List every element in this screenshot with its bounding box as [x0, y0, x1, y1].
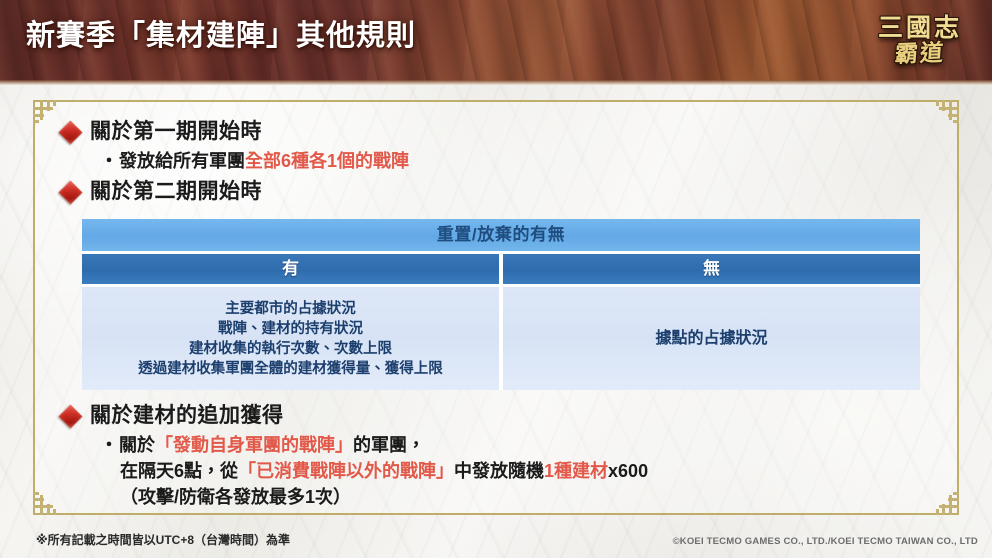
- table-column-headers: 有 無: [82, 254, 920, 284]
- header-bar: 新賽季「集材建陣」其他規則: [0, 0, 992, 85]
- table-cell-line: 透過建材收集軍團全體的建材獲得量、獲得上限: [138, 359, 443, 379]
- sub-bullet-dot: ・: [100, 151, 119, 171]
- sub-text-highlight: 1種建材: [544, 461, 608, 481]
- reset-abandon-table: 重置/放棄的有無 有 無 主要都市的占據狀況 戰陣、建材的持有狀況 建材收集的執…: [82, 219, 920, 390]
- sub-text-plain: 在隔天6點，從: [120, 461, 238, 481]
- sub-text-plain: x600: [608, 461, 648, 481]
- section-phase-two: 關於第二期開始時: [62, 178, 942, 206]
- red-diamond-icon: [58, 404, 82, 428]
- red-diamond-icon: [58, 120, 82, 144]
- corner-ornament-bottom-left: [33, 483, 65, 515]
- bullet-group-bottom: 關於建材的追加獲得 ・關於「發動自身軍團的戰陣」的軍團， 在隔天6點，從「已消費…: [62, 402, 942, 510]
- section-phase-one-title: 關於第一期開始時: [90, 118, 262, 146]
- corner-ornament-top-left: [33, 100, 65, 132]
- slide-root: 新賽季「集材建陣」其他規則 三國志 霸道 關於第一期開始時: [0, 0, 992, 558]
- table-column-header-yes: 有: [82, 254, 499, 284]
- sub-text-plain: 中發放隨機: [454, 461, 544, 481]
- table-cell-line: 主要都市的占據狀況: [225, 299, 356, 319]
- sangokushi-hadou-logo: 三國志 霸道: [860, 2, 980, 94]
- sub-text-plain: （攻擊/防衛各發放最多1次）: [120, 487, 351, 507]
- section-phase-two-heading: 關於第二期開始時: [62, 178, 942, 206]
- logo-line-2: 霸道: [859, 39, 981, 69]
- sub-text-plain: 關於: [119, 435, 155, 455]
- sub-text-plain: 發放給所有軍團: [119, 151, 245, 171]
- section-extra-materials-line-3: （攻擊/防衛各發放最多1次）: [120, 484, 942, 510]
- section-extra-materials-line-1: ・關於「發動自身軍團的戰陣」的軍團，: [100, 432, 942, 458]
- table-title: 重置/放棄的有無: [82, 219, 920, 251]
- section-phase-one-line-1: ・發放給所有軍團全部6種各1個的戰陣: [100, 148, 942, 174]
- copyright-notice: ©KOEI TECMO GAMES CO., LTD./KOEI TECMO T…: [673, 535, 978, 549]
- section-phase-two-title: 關於第二期開始時: [90, 178, 262, 206]
- sub-text-highlight: 「發動自身軍團的戰陣」: [155, 435, 353, 455]
- section-extra-materials-heading: 關於建材的追加獲得: [62, 402, 942, 430]
- sub-text-highlight: 「已消費戰陣以外的戰陣」: [238, 461, 454, 481]
- section-extra-materials: 關於建材的追加獲得 ・關於「發動自身軍團的戰陣」的軍團， 在隔天6點，從「已消費…: [62, 402, 942, 510]
- footnote-timezone: ※所有記載之時間皆以UTC+8（台灣時間）為準: [36, 532, 290, 548]
- section-extra-materials-line-2: 在隔天6點，從「已消費戰陣以外的戰陣」中發放隨機1種建材x600: [120, 458, 942, 484]
- section-extra-materials-title: 關於建材的追加獲得: [90, 402, 284, 430]
- table-cell-line: 戰陣、建材的持有狀況: [218, 319, 363, 339]
- table-cell-line: 據點的占據狀況: [655, 328, 767, 350]
- section-phase-one: 關於第一期開始時 ・發放給所有軍團全部6種各1個的戰陣: [62, 118, 942, 174]
- sub-bullet-dot: ・: [100, 435, 119, 455]
- table-body: 主要都市的占據狀況 戰陣、建材的持有狀況 建材收集的執行次數、次數上限 透過建材…: [82, 287, 920, 390]
- table-cell-yes: 主要都市的占據狀況 戰陣、建材的持有狀況 建材收集的執行次數、次數上限 透過建材…: [82, 287, 499, 390]
- sub-text-plain: 的軍團，: [353, 435, 425, 455]
- section-phase-one-heading: 關於第一期開始時: [62, 118, 942, 146]
- table-cell-no: 據點的占據狀況: [503, 287, 920, 390]
- page-title: 新賽季「集材建陣」其他規則: [26, 14, 416, 58]
- table-column-header-no: 無: [503, 254, 920, 284]
- red-diamond-icon: [58, 180, 82, 204]
- bullet-group-top: 關於第一期開始時 ・發放給所有軍團全部6種各1個的戰陣 關於第二期開始時: [62, 118, 942, 208]
- sub-text-highlight: 全部6種各1個的戰陣: [245, 151, 409, 171]
- table-cell-line: 建材收集的執行次數、次數上限: [189, 339, 392, 359]
